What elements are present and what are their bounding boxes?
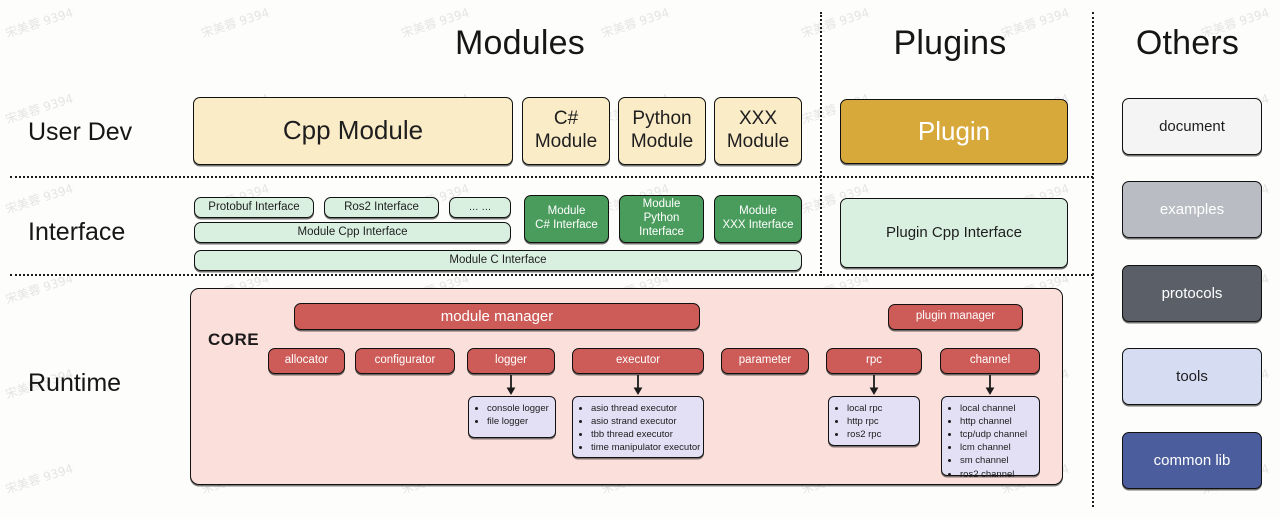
plugin-label: Plugin bbox=[918, 116, 990, 147]
csharp-module-label-line1: C# bbox=[554, 108, 578, 131]
row-label-runtime: Runtime bbox=[28, 369, 121, 398]
ros2-interface-box[interactable]: Ros2 Interface bbox=[324, 197, 439, 218]
module-manager-box[interactable]: module manager bbox=[294, 303, 700, 330]
channel-box[interactable]: channel bbox=[940, 348, 1040, 374]
rpc-detail-item: http rpc bbox=[847, 415, 913, 428]
channel-detail-item: tcp/udp channel bbox=[960, 428, 1033, 441]
divider-user-dev-interface bbox=[10, 176, 1093, 178]
configurator-box[interactable]: configurator bbox=[355, 348, 455, 374]
python-module-label-line1: Python bbox=[632, 108, 691, 131]
arrow-logger-down bbox=[504, 374, 518, 396]
rpc-detail-item: local rpc bbox=[847, 402, 913, 415]
xxx-module-label-line2: Module bbox=[727, 131, 789, 154]
channel-detail-item: ros2 channel bbox=[960, 468, 1033, 481]
more-interface-label: … … bbox=[469, 202, 492, 214]
row-label-user-dev: User Dev bbox=[28, 118, 132, 147]
module-manager-label: module manager bbox=[441, 308, 554, 326]
rpc-detail-box: local rpc http rpc ros2 rpc bbox=[828, 396, 920, 446]
rpc-box[interactable]: rpc bbox=[826, 348, 922, 374]
divider-interface-runtime bbox=[10, 274, 1093, 276]
xxx-module-box[interactable]: XXX Module bbox=[714, 97, 802, 165]
executor-label: executor bbox=[616, 354, 660, 368]
cpp-module-label: Cpp Module bbox=[283, 115, 423, 146]
module-csharp-interface-line1: Module bbox=[548, 205, 586, 219]
divider-modules-plugins bbox=[820, 12, 822, 276]
arrow-executor-down bbox=[631, 374, 645, 396]
protobuf-interface-label: Protobuf Interface bbox=[208, 201, 299, 215]
diagram-canvas: 宋美蓉 9394 宋美蓉 9394 宋美蓉 9394 宋美蓉 9394 宋美蓉 … bbox=[0, 0, 1280, 519]
module-csharp-interface-line2: C# Interface bbox=[535, 219, 598, 233]
channel-detail-item: sm channel bbox=[960, 454, 1033, 467]
module-python-interface-box[interactable]: Module Python Interface bbox=[619, 195, 704, 243]
arrow-rpc-down bbox=[867, 374, 881, 396]
cpp-module-box[interactable]: Cpp Module bbox=[193, 97, 513, 165]
allocator-box[interactable]: allocator bbox=[268, 348, 345, 374]
module-xxx-interface-line2: XXX Interface bbox=[723, 219, 794, 233]
channel-detail-item: local channel bbox=[960, 402, 1033, 415]
column-title-others: Others bbox=[1100, 24, 1275, 63]
ros2-interface-label: Ros2 Interface bbox=[344, 201, 419, 215]
core-label: CORE bbox=[208, 330, 259, 350]
executor-detail-item: time manipulator executor bbox=[591, 441, 697, 454]
plugin-cpp-interface-label: Plugin Cpp Interface bbox=[886, 224, 1022, 242]
rpc-detail-list: local rpc http rpc ros2 rpc bbox=[836, 402, 913, 441]
row-label-interface: Interface bbox=[28, 218, 125, 247]
csharp-module-box[interactable]: C# Module bbox=[522, 97, 610, 165]
executor-detail-item: tbb thread executor bbox=[591, 428, 697, 441]
module-xxx-interface-line1: Module bbox=[739, 205, 777, 219]
more-interface-box[interactable]: … … bbox=[449, 197, 511, 218]
logger-detail-list: console logger file logger bbox=[476, 402, 549, 428]
rpc-label: rpc bbox=[866, 354, 882, 368]
module-c-interface-box[interactable]: Module C Interface bbox=[194, 250, 802, 271]
channel-detail-box: local channel http channel tcp/udp chann… bbox=[941, 396, 1040, 476]
module-cpp-interface-label: Module Cpp Interface bbox=[298, 226, 408, 240]
column-title-modules: Modules bbox=[240, 24, 800, 63]
others-document-label: document bbox=[1159, 118, 1225, 136]
others-tools-label: tools bbox=[1176, 368, 1208, 386]
protobuf-interface-box[interactable]: Protobuf Interface bbox=[194, 197, 314, 218]
channel-detail-item: lcm channel bbox=[960, 441, 1033, 454]
logger-detail-item: file logger bbox=[487, 415, 549, 428]
module-c-interface-label: Module C Interface bbox=[449, 254, 546, 268]
others-common-lib-box[interactable]: common lib bbox=[1122, 432, 1262, 489]
plugin-manager-box[interactable]: plugin manager bbox=[888, 304, 1023, 330]
logger-detail-item: console logger bbox=[487, 402, 549, 415]
others-examples-label: examples bbox=[1160, 201, 1224, 219]
channel-detail-item: http channel bbox=[960, 415, 1033, 428]
logger-detail-box: console logger file logger bbox=[468, 396, 556, 438]
plugin-manager-label: plugin manager bbox=[916, 310, 995, 324]
logger-label: logger bbox=[495, 354, 527, 368]
executor-detail-item: asio strand executor bbox=[591, 415, 697, 428]
python-module-box[interactable]: Python Module bbox=[618, 97, 706, 165]
executor-detail-item: asio thread executor bbox=[591, 402, 697, 415]
executor-detail-list: asio thread executor asio strand executo… bbox=[580, 402, 697, 454]
watermark: 宋美蓉 9394 bbox=[3, 460, 75, 498]
others-protocols-box[interactable]: protocols bbox=[1122, 265, 1262, 322]
others-common-lib-label: common lib bbox=[1154, 452, 1231, 470]
module-xxx-interface-box[interactable]: Module XXX Interface bbox=[714, 195, 802, 243]
executor-box[interactable]: executor bbox=[572, 348, 704, 374]
rpc-detail-item: ros2 rpc bbox=[847, 428, 913, 441]
column-title-plugins: Plugins bbox=[830, 24, 1070, 63]
module-csharp-interface-box[interactable]: Module C# Interface bbox=[524, 195, 609, 243]
plugin-box[interactable]: Plugin bbox=[840, 99, 1068, 164]
watermark: 宋美蓉 9394 bbox=[3, 180, 75, 218]
channel-detail-list: local channel http channel tcp/udp chann… bbox=[949, 402, 1033, 481]
channel-label: channel bbox=[970, 354, 1010, 368]
others-tools-box[interactable]: tools bbox=[1122, 348, 1262, 405]
watermark: 宋美蓉 9394 bbox=[3, 4, 75, 42]
others-protocols-label: protocols bbox=[1162, 285, 1223, 303]
python-module-label-line2: Module bbox=[631, 131, 693, 154]
module-python-interface-line2: Python Interface bbox=[620, 212, 703, 240]
divider-plugins-others bbox=[1092, 12, 1094, 507]
plugin-cpp-interface-box[interactable]: Plugin Cpp Interface bbox=[840, 198, 1068, 268]
module-cpp-interface-box[interactable]: Module Cpp Interface bbox=[194, 222, 511, 243]
logger-box[interactable]: logger bbox=[467, 348, 555, 374]
xxx-module-label-line1: XXX bbox=[739, 108, 777, 131]
parameter-box[interactable]: parameter bbox=[721, 348, 809, 374]
others-document-box[interactable]: document bbox=[1122, 98, 1262, 155]
csharp-module-label-line2: Module bbox=[535, 131, 597, 154]
allocator-label: allocator bbox=[285, 354, 328, 368]
configurator-label: configurator bbox=[375, 354, 436, 368]
module-python-interface-line1: Module bbox=[643, 198, 681, 212]
others-examples-box[interactable]: examples bbox=[1122, 181, 1262, 238]
arrow-channel-down bbox=[983, 374, 997, 396]
parameter-label: parameter bbox=[739, 354, 791, 368]
executor-detail-box: asio thread executor asio strand executo… bbox=[572, 396, 704, 458]
